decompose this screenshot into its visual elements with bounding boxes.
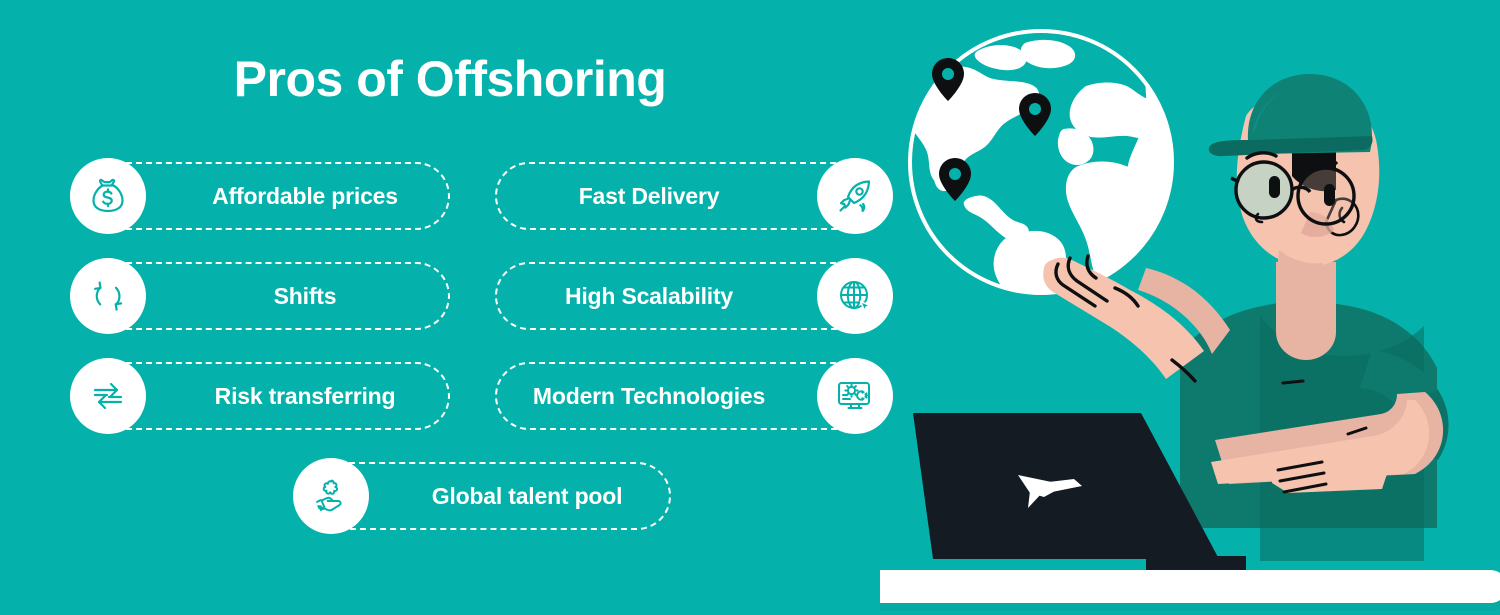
benefit-item-affordable-prices[interactable]: Affordable prices [70, 158, 450, 234]
europe-pin [1019, 93, 1051, 136]
benefit-item-modern-technologies[interactable]: Modern Technologies [495, 358, 893, 434]
benefit-pill: High Scalability [495, 262, 871, 330]
benefit-item-global-talent-pool[interactable]: Global talent pool [293, 458, 671, 534]
illustration [880, 0, 1500, 615]
benefit-pill: Fast Delivery [495, 162, 871, 230]
hand-puzzle-icon [293, 458, 369, 534]
benefit-item-fast-delivery[interactable]: Fast Delivery [495, 158, 893, 234]
money-bag-icon [70, 158, 146, 234]
benefit-item-risk-transferring[interactable]: Risk transferring [70, 358, 450, 434]
page-title: Pros of Offshoring [0, 52, 900, 107]
benefit-label: Fast Delivery [579, 183, 720, 210]
benefit-pill: Modern Technologies [495, 362, 871, 430]
benefit-label: High Scalability [565, 283, 733, 310]
benefit-label: Global talent pool [432, 483, 623, 510]
monitor-gears-icon [817, 358, 893, 434]
benefit-label: Modern Technologies [533, 383, 765, 410]
benefit-label: Shifts [274, 283, 337, 310]
transfer-arrows-icon [70, 358, 146, 434]
south-america-pin [939, 158, 971, 201]
benefit-label: Risk transferring [215, 383, 396, 410]
rocket-icon [817, 158, 893, 234]
refresh-cycle-icon [70, 258, 146, 334]
benefit-label: Affordable prices [212, 183, 398, 210]
infographic-canvas: Pros of Offshoring Affordable prices Shi… [0, 0, 1500, 615]
globe-cursor-icon [817, 258, 893, 334]
benefit-item-high-scalability[interactable]: High Scalability [495, 258, 893, 334]
desk-surface [880, 570, 1500, 611]
benefit-item-shifts[interactable]: Shifts [70, 258, 450, 334]
